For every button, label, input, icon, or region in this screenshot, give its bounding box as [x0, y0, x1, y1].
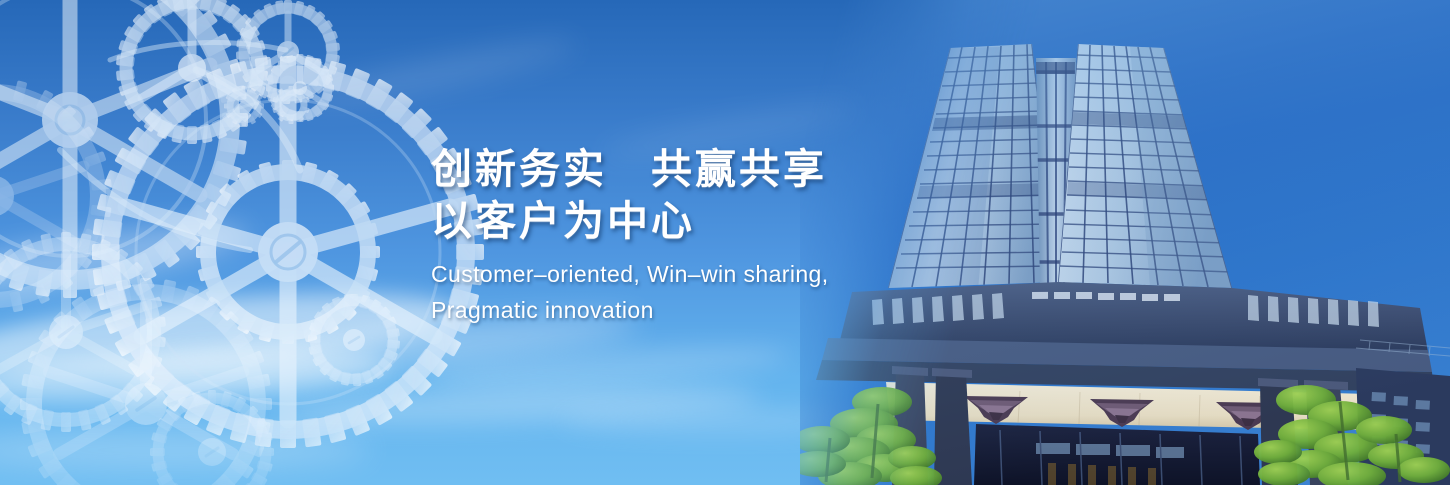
headline-cn-line2: 以客户为中心	[431, 195, 951, 247]
hero-banner: 创新务实 共赢共享 以客户为中心 Customer–oriented, Win–…	[0, 0, 1450, 485]
headline-cn-line1: 创新务实 共赢共享	[431, 143, 951, 195]
subtitle-en-line2: Pragmatic innovation	[431, 292, 951, 328]
subtitle-en-line1: Customer–oriented, Win–win sharing,	[431, 256, 951, 292]
headline-block: 创新务实 共赢共享 以客户为中心 Customer–oriented, Win–…	[431, 143, 951, 328]
